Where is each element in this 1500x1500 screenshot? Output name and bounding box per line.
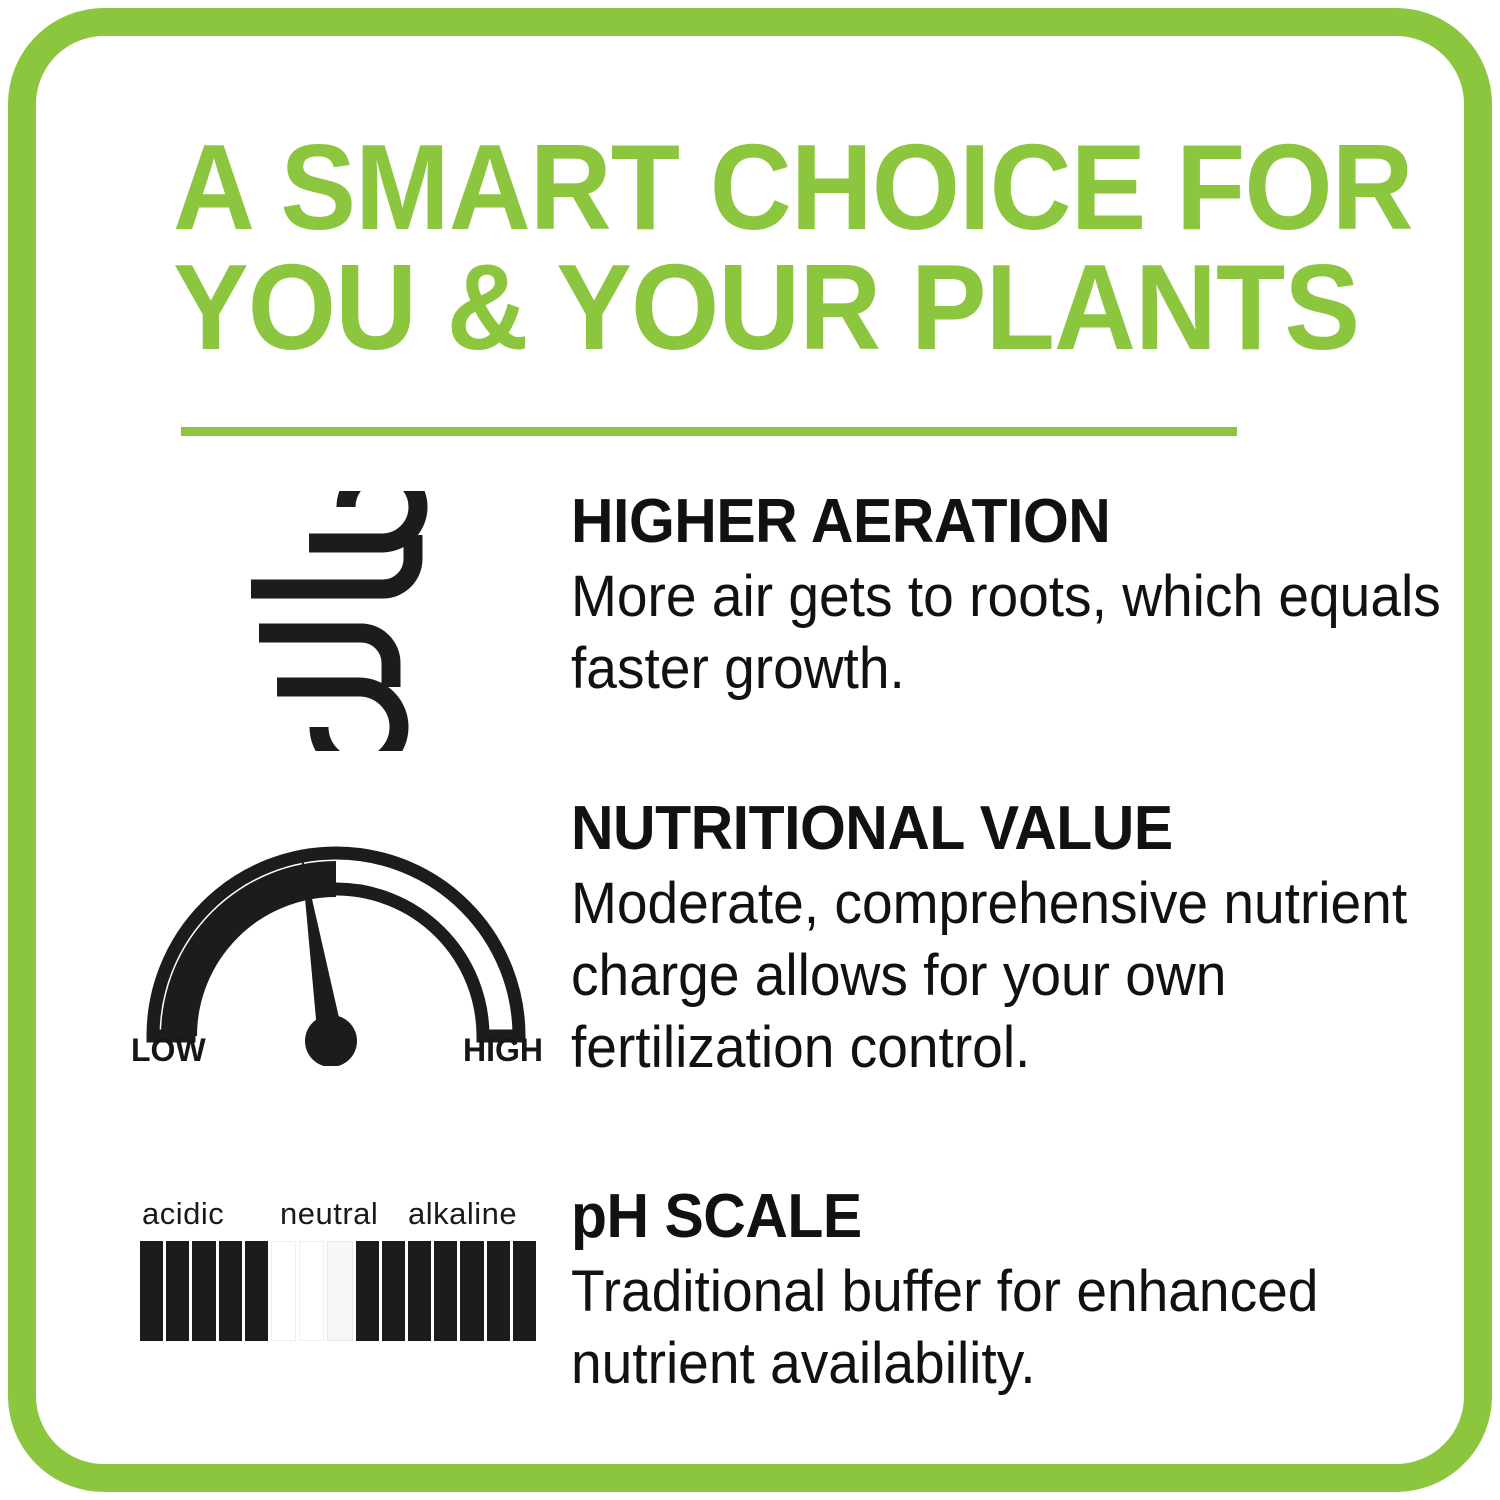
feature-heading-nutrition: NUTRITIONAL VALUE bbox=[571, 798, 1417, 860]
ph-bar bbox=[219, 1241, 242, 1341]
ph-bar bbox=[245, 1241, 268, 1341]
title-line-1: A SMART CHOICE FOR bbox=[173, 128, 1317, 248]
ph-bar bbox=[271, 1241, 296, 1341]
gauge-high-label: HIGH bbox=[463, 1032, 543, 1069]
page-title: A SMART CHOICE FOR YOU & YOUR PLANTS bbox=[173, 128, 1403, 367]
ph-bar bbox=[327, 1241, 352, 1341]
ph-bar bbox=[382, 1241, 405, 1341]
ph-label-alkaline: alkaline bbox=[408, 1196, 517, 1232]
infographic-card: A SMART CHOICE FOR YOU & YOUR PLANTS HIG bbox=[8, 8, 1492, 1492]
gauge-icon: LOW HIGH bbox=[131, 836, 541, 1066]
ph-label-neutral: neutral bbox=[280, 1196, 378, 1232]
feature-heading-aeration: HIGHER AERATION bbox=[571, 491, 1417, 553]
ph-bar bbox=[299, 1241, 324, 1341]
feature-heading-ph: pH SCALE bbox=[571, 1186, 1417, 1248]
feature-text-ph: pH SCALE Traditional buffer for enhanced… bbox=[571, 1186, 1461, 1400]
ph-bar bbox=[487, 1241, 510, 1341]
gauge-low-label: LOW bbox=[131, 1032, 206, 1069]
ph-bar bbox=[356, 1241, 379, 1341]
feature-body-ph: Traditional buffer for enhanced nutrient… bbox=[571, 1256, 1464, 1400]
ph-bar bbox=[140, 1241, 163, 1341]
ph-bar bbox=[192, 1241, 215, 1341]
ph-bar bbox=[513, 1241, 536, 1341]
ph-bar bbox=[460, 1241, 483, 1341]
title-divider bbox=[181, 427, 1237, 436]
feature-text-aeration: HIGHER AERATION More air gets to roots, … bbox=[571, 491, 1461, 705]
feature-body-nutrition: Moderate, comprehensive nutrient charge … bbox=[571, 868, 1464, 1084]
wind-icon bbox=[231, 491, 551, 751]
feature-text-nutrition: NUTRITIONAL VALUE Moderate, comprehensiv… bbox=[571, 798, 1461, 1084]
feature-body-aeration: More air gets to roots, which equals fas… bbox=[571, 561, 1464, 705]
ph-label-acidic: acidic bbox=[142, 1196, 224, 1232]
title-line-2: YOU & YOUR PLANTS bbox=[173, 248, 1317, 368]
ph-scale-icon: acidic neutral alkaline bbox=[136, 1196, 536, 1341]
ph-bar bbox=[408, 1241, 431, 1341]
ph-bar bbox=[434, 1241, 457, 1341]
ph-scale-bars bbox=[140, 1241, 536, 1341]
ph-scale-labels: acidic neutral alkaline bbox=[136, 1196, 536, 1236]
ph-bar bbox=[166, 1241, 189, 1341]
